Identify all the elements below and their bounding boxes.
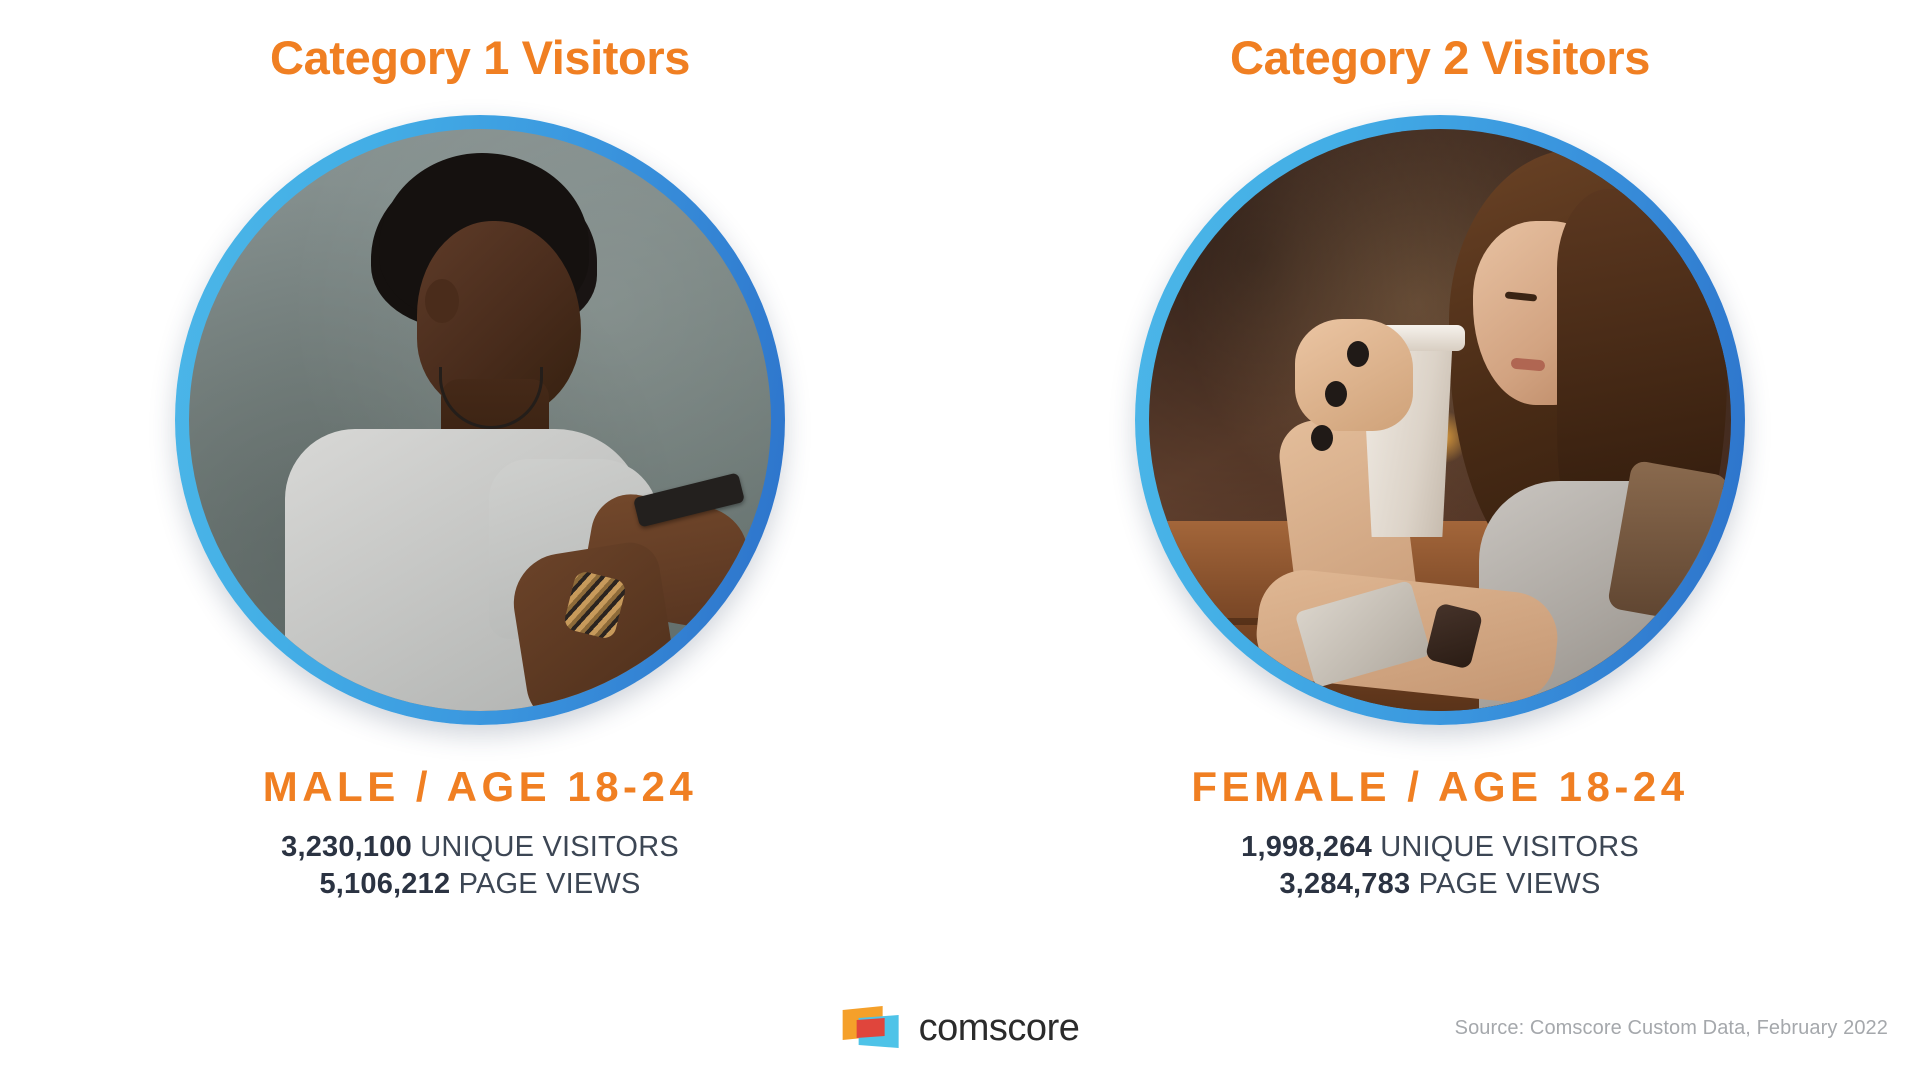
stat-value: 3,284,783 xyxy=(1279,868,1410,900)
category-title-1: Category 1 Visitors xyxy=(270,30,690,85)
hand-shape xyxy=(1295,319,1413,431)
stat-value: 1,998,264 xyxy=(1241,831,1372,863)
stat-line-unique-visitors-2: 1,998,264 UNIQUE VISITORS xyxy=(1241,829,1639,866)
source-note: Source: Comscore Custom Data, February 2… xyxy=(1455,1017,1888,1040)
stat-label: UNIQUE VISITORS xyxy=(1380,831,1639,863)
ear-shape xyxy=(425,279,459,323)
footer: comscore Source: Comscore Custom Data, F… xyxy=(0,990,1920,1080)
fingernail-shape xyxy=(1347,341,1369,367)
portrait-circle-1 xyxy=(175,115,785,725)
panel-grid: Category 1 Visitors xyxy=(0,0,1920,990)
comscore-brand: comscore xyxy=(841,1004,1080,1052)
demographic-label-1: MALE / AGE 18-24 xyxy=(263,763,698,811)
portrait-photo-female xyxy=(1149,129,1731,711)
comscore-logo-icon xyxy=(841,1004,901,1052)
slide-root: Category 1 Visitors xyxy=(0,0,1920,1080)
portrait-circle-2 xyxy=(1135,115,1745,725)
panel-category-1: Category 1 Visitors xyxy=(0,0,960,990)
demographic-label-2: FEMALE / AGE 18-24 xyxy=(1191,763,1688,811)
stat-line-unique-visitors-1: 3,230,100 UNIQUE VISITORS xyxy=(281,829,679,866)
stat-label: UNIQUE VISITORS xyxy=(420,831,679,863)
stat-line-page-views-2: 3,284,783 PAGE VIEWS xyxy=(1241,866,1639,903)
fingernail-shape xyxy=(1311,425,1333,451)
stat-value: 3,230,100 xyxy=(281,831,412,863)
portrait-photo-male xyxy=(189,129,771,711)
comscore-wordmark: comscore xyxy=(919,1007,1080,1050)
stats-block-1: 3,230,100 UNIQUE VISITORS 5,106,212 PAGE… xyxy=(281,829,679,903)
stat-line-page-views-1: 5,106,212 PAGE VIEWS xyxy=(281,866,679,903)
stats-block-2: 1,998,264 UNIQUE VISITORS 3,284,783 PAGE… xyxy=(1241,829,1639,903)
panel-category-2: Category 2 Visitors xyxy=(960,0,1920,990)
stat-value: 5,106,212 xyxy=(319,868,450,900)
category-title-2: Category 2 Visitors xyxy=(1230,30,1650,85)
fingernail-shape xyxy=(1325,381,1347,407)
stat-label: PAGE VIEWS xyxy=(459,868,641,900)
stat-label: PAGE VIEWS xyxy=(1419,868,1601,900)
